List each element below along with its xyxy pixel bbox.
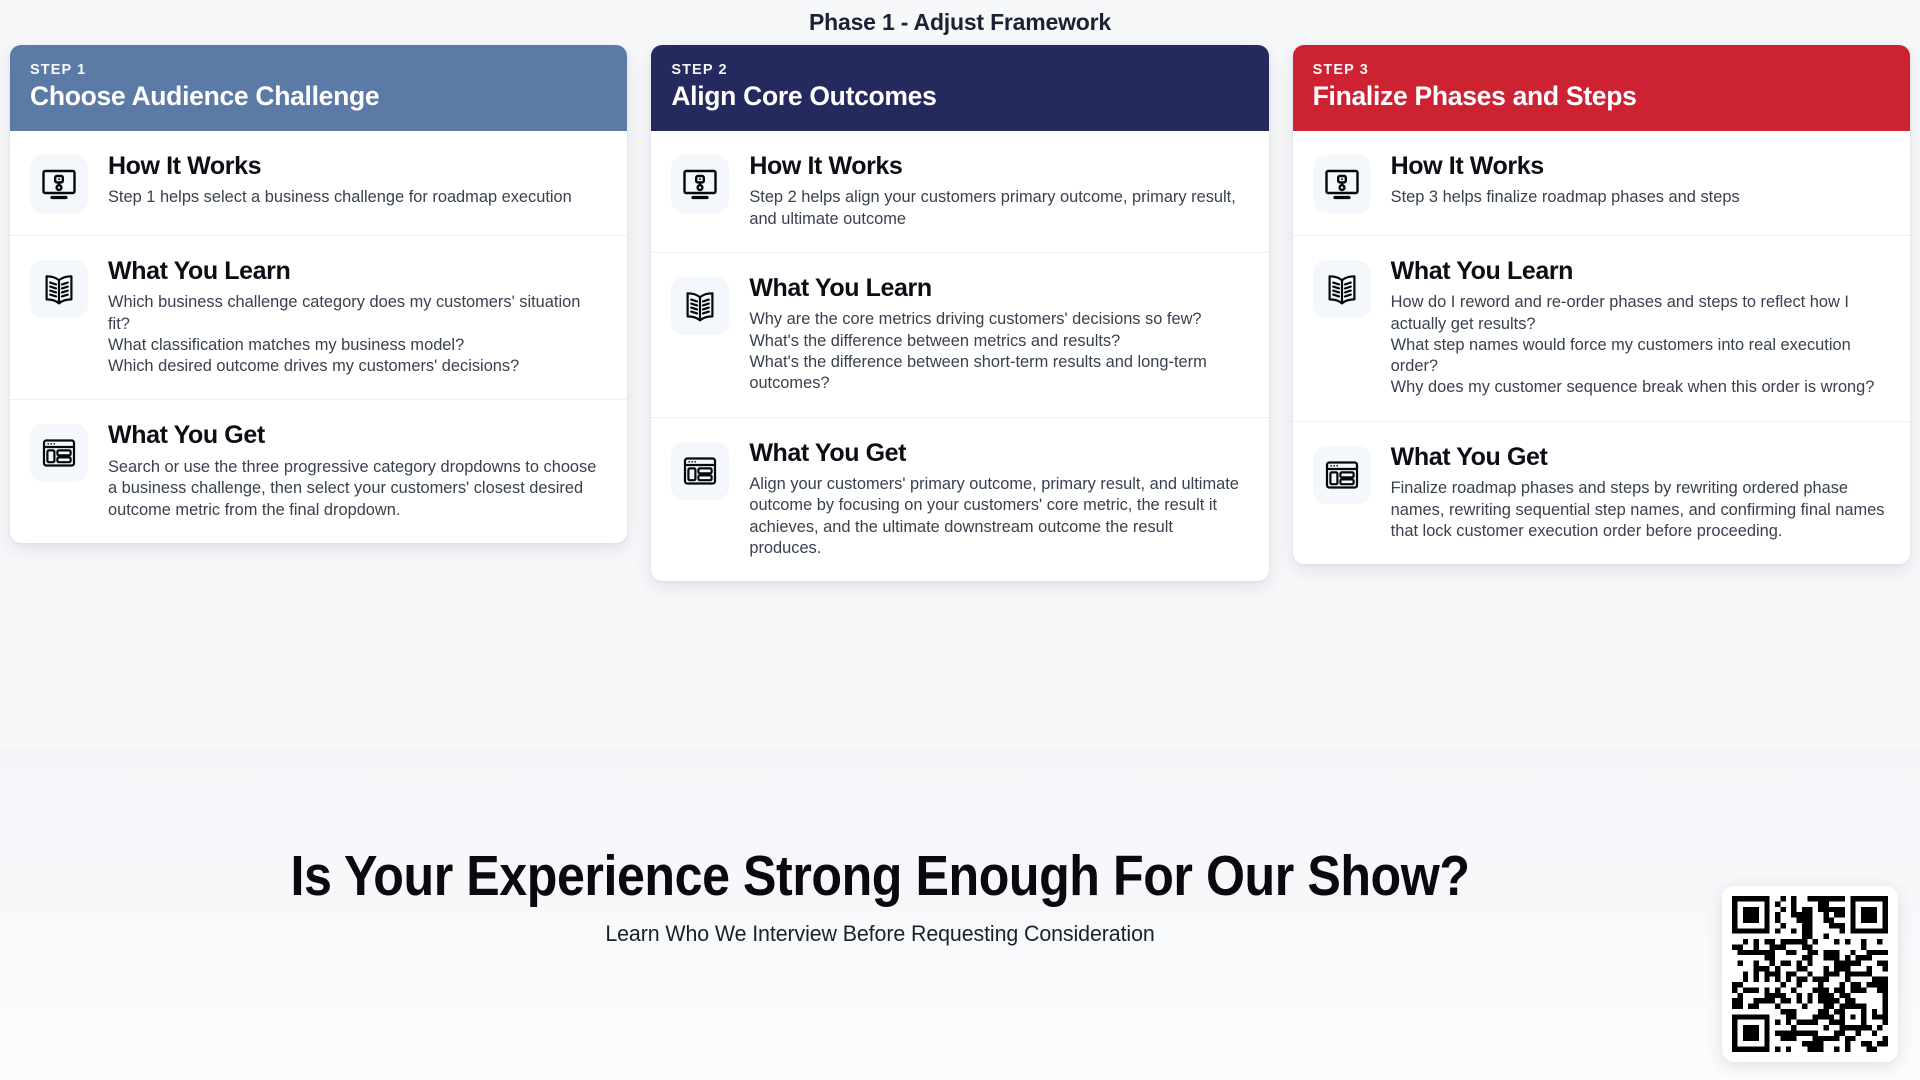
step-card-2[interactable]: STEP 2 Align Core Outcomes How It Works	[651, 45, 1268, 581]
step-card-2-body: How It Works Step 2 helps align your cus…	[651, 131, 1268, 582]
monitor-gauge-icon	[671, 155, 729, 213]
browser-layout-icon	[1313, 446, 1371, 504]
qr-code-icon	[1732, 896, 1888, 1052]
open-book-icon	[1313, 260, 1371, 318]
monitor-gauge-icon	[1313, 155, 1371, 213]
section-how-it-works: How It Works Step 3 helps finalize roadm…	[1293, 131, 1910, 235]
step-card-3-kicker: STEP 3	[1313, 62, 1890, 78]
section-heading: What You Learn	[1391, 258, 1888, 286]
page-title: Phase 1 - Adjust Framework	[0, 0, 1920, 36]
open-book-icon	[30, 260, 88, 318]
promo-banner: Is Your Experience Strong Enough For Our…	[0, 750, 1920, 1080]
section-heading: What You Get	[1391, 444, 1888, 472]
promo-headline: Is Your Experience Strong Enough For Our…	[106, 848, 1655, 905]
section-body: Finalize roadmap phases and steps by rew…	[1391, 478, 1888, 542]
section-body: How do I reword and re-order phases and …	[1391, 292, 1888, 399]
step-card-1-body: How It Works Step 1 helps select a busin…	[10, 131, 627, 543]
section-how-it-works: How It Works Step 1 helps select a busin…	[10, 131, 627, 235]
step-card-2-kicker: STEP 2	[671, 62, 1248, 78]
step-card-3[interactable]: STEP 3 Finalize Phases and Steps How It	[1293, 45, 1910, 564]
step-card-1-title: Choose Audience Challenge	[30, 82, 607, 112]
section-heading: What You Learn	[749, 275, 1246, 303]
section-what-you-learn: What You Learn Which business challenge …	[10, 235, 627, 400]
section-body: Step 3 helps finalize roadmap phases and…	[1391, 187, 1888, 208]
section-body: Which business challenge category does m…	[108, 292, 605, 377]
step-card-1-kicker: STEP 1	[30, 62, 607, 78]
section-heading: What You Get	[108, 422, 605, 450]
section-what-you-get: What You Get Search or use the three pro…	[10, 399, 627, 542]
section-body: Why are the core metrics driving custome…	[749, 309, 1246, 394]
open-book-icon	[671, 277, 729, 335]
step-card-2-title: Align Core Outcomes	[671, 82, 1248, 112]
section-what-you-get: What You Get Finalize roadmap phases and…	[1293, 421, 1910, 564]
qr-code-card[interactable]	[1722, 886, 1898, 1062]
section-heading: How It Works	[108, 153, 605, 181]
steps-card-row: STEP 1 Choose Audience Challenge How It	[0, 36, 1920, 581]
step-card-3-body: How It Works Step 3 helps finalize roadm…	[1293, 131, 1910, 565]
section-what-you-learn: What You Learn Why are the core metrics …	[651, 252, 1268, 417]
section-body: Search or use the three progressive cate…	[108, 457, 605, 521]
step-card-1-header: STEP 1 Choose Audience Challenge	[10, 45, 627, 131]
section-body: Step 2 helps align your customers primar…	[749, 187, 1246, 230]
step-card-3-header: STEP 3 Finalize Phases and Steps	[1293, 45, 1910, 131]
section-body: Step 1 helps select a business challenge…	[108, 187, 605, 208]
section-heading: What You Learn	[108, 258, 605, 286]
section-how-it-works: How It Works Step 2 helps align your cus…	[651, 131, 1268, 252]
promo-subhead: Learn Who We Interview Before Requesting…	[44, 921, 1716, 947]
step-card-1[interactable]: STEP 1 Choose Audience Challenge How It	[10, 45, 627, 543]
browser-layout-icon	[671, 442, 729, 500]
section-body: Align your customers' primary outcome, p…	[749, 474, 1246, 559]
browser-layout-icon	[30, 424, 88, 482]
section-heading: What You Get	[749, 440, 1246, 468]
step-card-2-header: STEP 2 Align Core Outcomes	[651, 45, 1268, 131]
section-what-you-learn: What You Learn How do I reword and re-or…	[1293, 235, 1910, 421]
monitor-gauge-icon	[30, 155, 88, 213]
section-heading: How It Works	[749, 153, 1246, 181]
section-what-you-get: What You Get Align your customers' prima…	[651, 417, 1268, 582]
section-heading: How It Works	[1391, 153, 1888, 181]
step-card-3-title: Finalize Phases and Steps	[1313, 82, 1890, 112]
